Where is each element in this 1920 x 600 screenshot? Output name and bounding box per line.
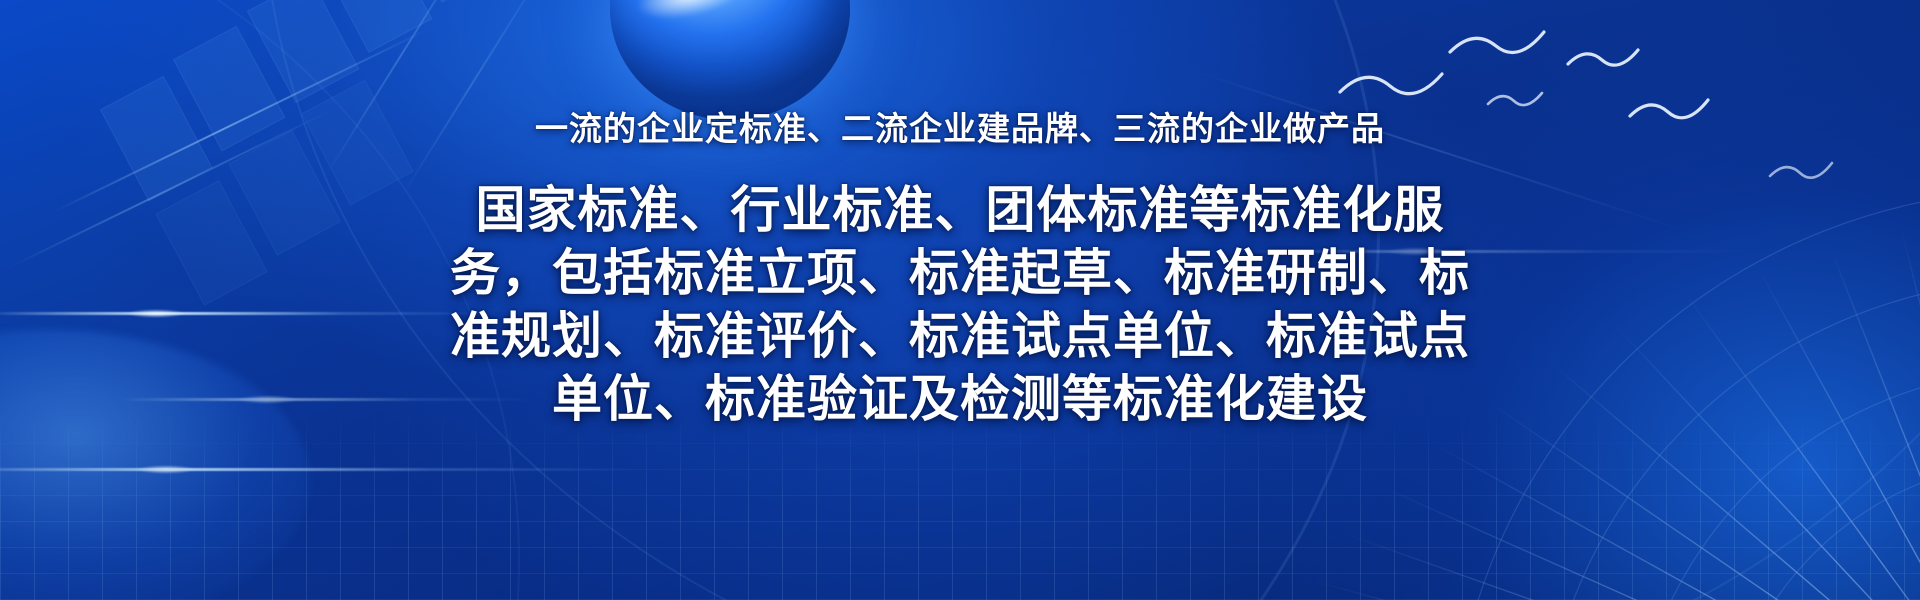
banner-tagline: 一流的企业定标准、二流企业建品牌、三流的企业做产品	[535, 108, 1385, 149]
banner-text-block: 一流的企业定标准、二流企业建品牌、三流的企业做产品 国家标准、行业标准、团体标准…	[0, 0, 1920, 600]
promo-banner: 一流的企业定标准、二流企业建品牌、三流的企业做产品 国家标准、行业标准、团体标准…	[0, 0, 1920, 600]
banner-headline: 国家标准、行业标准、团体标准等标准化服务，包括标准立项、标准起草、标准研制、标准…	[435, 179, 1485, 431]
